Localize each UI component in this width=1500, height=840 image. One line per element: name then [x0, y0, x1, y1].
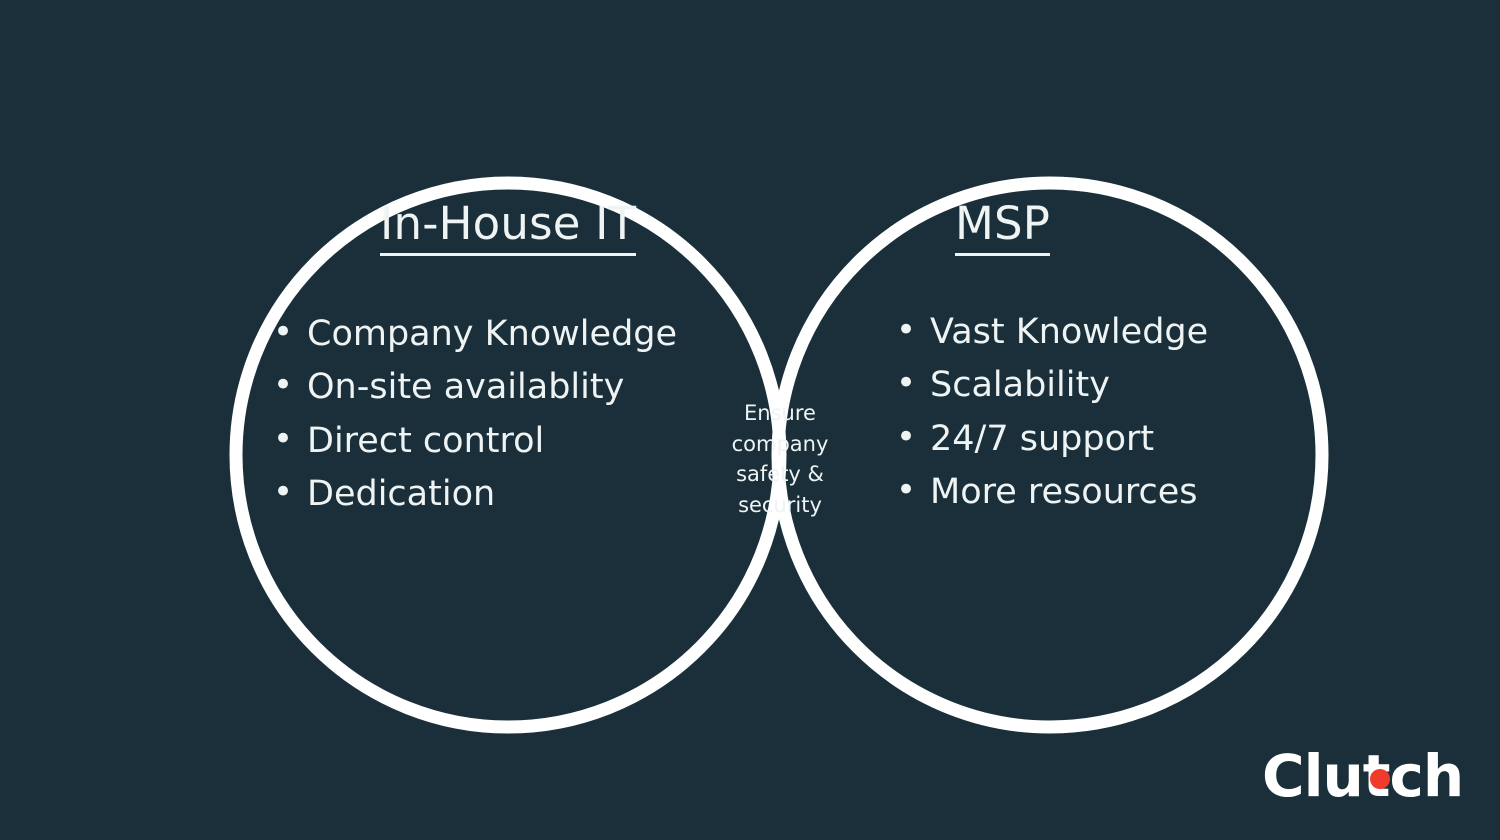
list-item: Scalability	[888, 359, 1260, 412]
venn-diagram-slide: In-House IT Company Knowledge On-site av…	[0, 0, 1500, 840]
list-item: More resources	[888, 466, 1260, 519]
clutch-logo: Clutch	[1262, 746, 1462, 812]
list-item: Direct control	[265, 415, 690, 468]
right-set-list: Vast Knowledge Scalability 24/7 support …	[888, 306, 1260, 519]
list-item: Company Knowledge	[265, 308, 690, 361]
list-item: 24/7 support	[888, 413, 1260, 466]
svg-text:Clutch: Clutch	[1262, 746, 1462, 810]
list-item: Vast Knowledge	[888, 306, 1260, 359]
list-item: Dedication	[265, 468, 690, 521]
venn-right-group: MSP Vast Knowledge Scalability 24/7 supp…	[860, 200, 1260, 519]
left-set-title-label: In-House IT	[380, 200, 636, 256]
clutch-logo-dot	[1370, 769, 1390, 789]
right-set-title: MSP	[860, 200, 1260, 256]
clutch-wordmark-icon: Clutch	[1262, 746, 1462, 812]
venn-left-group: In-House IT Company Knowledge On-site av…	[250, 200, 690, 521]
left-set-list: Company Knowledge On-site availablity Di…	[265, 308, 690, 521]
list-item: On-site availablity	[265, 361, 690, 414]
right-set-title-label: MSP	[955, 200, 1050, 256]
left-set-title: In-House IT	[250, 200, 690, 256]
venn-intersection-label: Ensure company safety & security	[702, 398, 858, 521]
